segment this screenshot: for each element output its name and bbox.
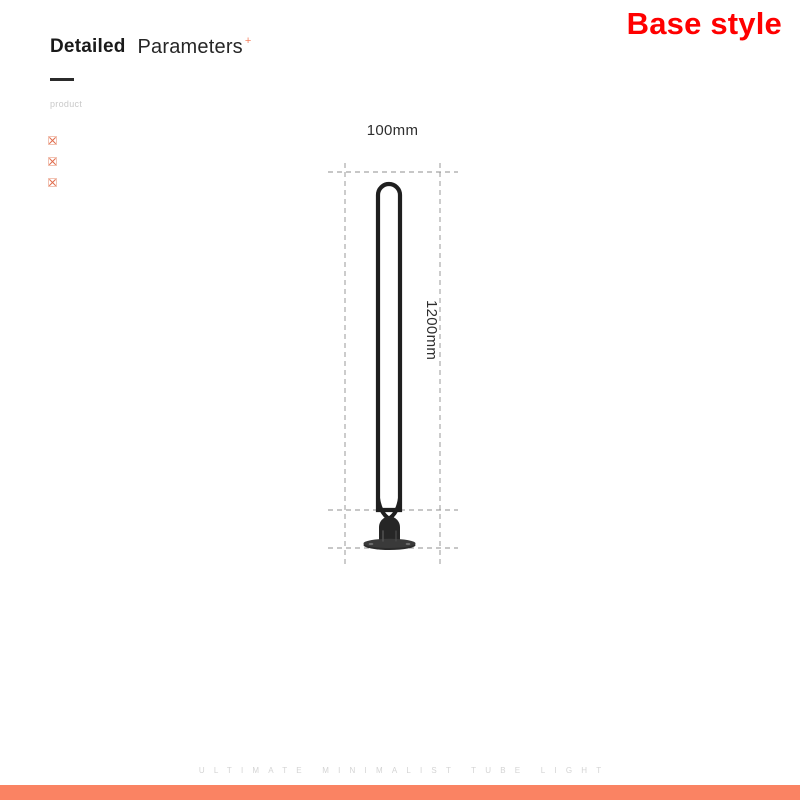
lamp-stem-right [390, 498, 400, 518]
heading-strong-word: Detailed [50, 36, 126, 58]
lamp-tube [378, 184, 400, 510]
heading-underline-rule [50, 78, 74, 81]
footer-tagline: ULTIMATE MINIMALIST TUBE LIGHT [0, 766, 800, 775]
height-dimension-label: 1200mm [423, 300, 440, 360]
dimension-guide-lines [328, 163, 458, 566]
lamp-base-foot-disc [364, 540, 416, 550]
lamp-base [364, 517, 416, 551]
broken-image-icon [48, 178, 57, 187]
lamp-base-dome [379, 517, 400, 543]
base-style-badge: Base style [627, 6, 782, 42]
heading-light-word: Parameters [138, 36, 243, 59]
broken-image-icon [48, 157, 57, 166]
heading-line: Detailed Parameters + [50, 36, 251, 59]
base-screw-left [369, 543, 374, 545]
page-title: Detailed Parameters + [50, 36, 251, 81]
base-screw-right [406, 543, 411, 545]
width-dimension-label: 100mm [345, 122, 440, 139]
lamp-stem-left [378, 498, 390, 530]
lamp-technical-drawing [0, 0, 800, 800]
lamp-tube-outline [378, 184, 400, 510]
lamp-stem [378, 498, 400, 530]
lamp-base-dome-bottom [379, 539, 400, 544]
lamp-base-foot-top [364, 539, 416, 548]
broken-image-list [48, 136, 57, 199]
product-subtitle: product [50, 99, 82, 109]
heading-plus-superscript: + [245, 35, 251, 47]
product-detail-page: Base style Detailed Parameters + product [0, 0, 800, 800]
broken-image-icon [48, 136, 57, 145]
footer-accent-bar [0, 785, 800, 800]
